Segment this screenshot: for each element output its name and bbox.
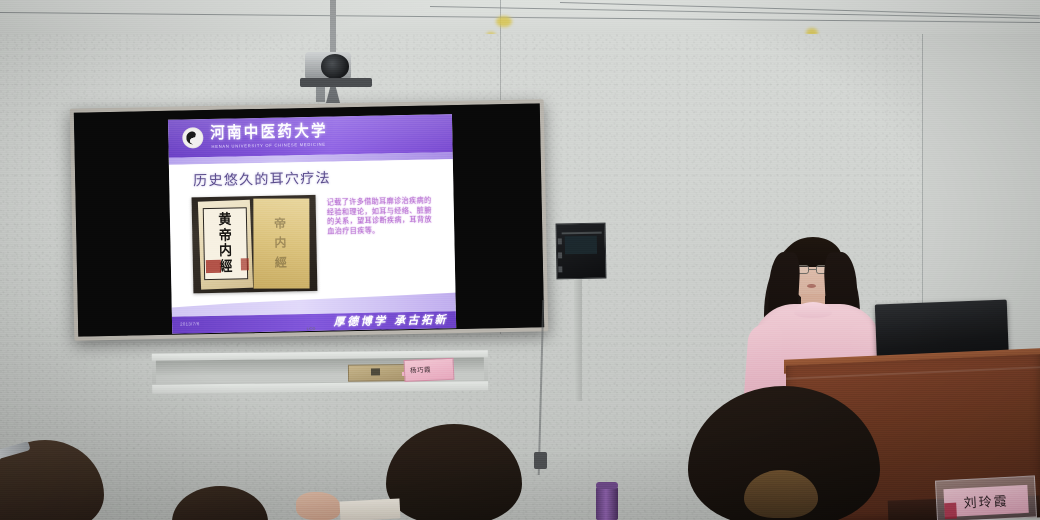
book-char-4: 經 <box>219 260 232 274</box>
book-char-2: 帝 <box>219 229 232 243</box>
box-tape <box>371 368 380 375</box>
cable-wall-clip <box>534 452 547 469</box>
book-red-seal-2 <box>241 258 249 270</box>
book-ghost-char-2: 内 <box>274 236 286 248</box>
book-char-1: 黄 <box>218 213 231 227</box>
ceiling-stain-1 <box>496 16 512 27</box>
panel-button-2[interactable] <box>558 252 562 258</box>
wall-display[interactable]: 河南中医药大学 HENAN UNIVERSITY OF CHINESE MEDI… <box>70 99 549 340</box>
audience-hand <box>296 492 340 520</box>
book-char-3: 内 <box>219 244 232 258</box>
thermos-cup <box>596 486 618 520</box>
panel-button-1[interactable] <box>558 238 562 244</box>
slide-date: 2013/7/6 <box>180 321 200 326</box>
name-placard: 刘玲霞 <box>935 475 1037 520</box>
placard-name-text: 刘玲霞 <box>963 490 1009 511</box>
panel-button-3[interactable] <box>558 266 562 272</box>
book-faded-title: 帝 内 經 <box>258 209 303 276</box>
slide-body: 历史悠久的耳穴疗法 帝 内 經 黄 帝 内 經 <box>169 159 456 313</box>
wall-control-panel[interactable] <box>556 223 607 280</box>
presentation-slide: 河南中医药大学 HENAN UNIVERSITY OF CHINESE MEDI… <box>168 114 456 334</box>
camera-post <box>316 86 325 102</box>
name-cards: 杨巧霞 <box>404 358 455 382</box>
glasses-bridge <box>809 269 816 270</box>
placard-red-accent <box>944 503 957 520</box>
wall-shelf: 杨巧霞 <box>152 350 488 394</box>
name-card-text: 杨巧霞 <box>410 364 431 375</box>
thermos-cap <box>596 482 618 489</box>
camera-lens-icon <box>321 54 349 79</box>
book-ghost-char-3: 經 <box>275 256 287 268</box>
slide-title: 历史悠久的耳穴疗法 <box>193 170 331 190</box>
slide-body-text: 记载了许多借助耳廓诊治疾病的经验和理论，如耳与经络、脏腑的关系，望耳诊断疾病，耳… <box>327 195 438 236</box>
presenter-mouth <box>807 284 816 288</box>
book-ghost-char-1: 帝 <box>274 217 286 229</box>
audience-paper <box>340 498 401 520</box>
camera-mount-pole <box>330 0 336 52</box>
book-image: 帝 内 經 黄 帝 内 經 <box>192 195 318 293</box>
display-brand-badge: LCD <box>307 326 316 331</box>
panel-top-strip <box>562 232 602 234</box>
placard-card: 刘玲霞 <box>943 485 1028 517</box>
camera-bracket-arm <box>300 78 372 87</box>
cardboard-box <box>348 364 406 382</box>
slide-motto: 厚德博学 承古拓新 <box>334 312 449 329</box>
book-red-seal-1 <box>206 260 221 273</box>
lecture-hall-photo: 河南中医药大学 HENAN UNIVERSITY OF CHINESE MEDI… <box>0 0 1040 520</box>
panel-screen <box>565 236 597 255</box>
university-name-cn: 河南中医药大学 <box>210 123 328 143</box>
presenter-collar <box>794 302 832 318</box>
panel-support-post <box>574 279 582 401</box>
